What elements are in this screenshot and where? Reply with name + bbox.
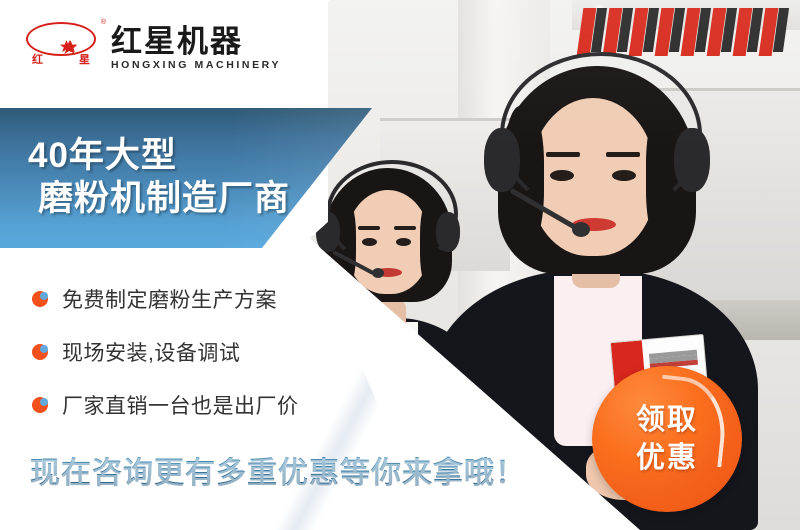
headline-line-1: 40年大型 [28, 135, 372, 178]
logo-wordmark: 红星机器 HONGXING MACHINERY [111, 26, 281, 70]
promo-banner: 40年大型 磨粉机制造厂商 ® 红 星 红 [0, 0, 800, 530]
registered-trademark-symbol: ® [101, 19, 106, 26]
company-logo[interactable]: ® 红 星 红星机器 HONGXING MACHINERY [24, 18, 281, 78]
logo-sub-left: 红 [32, 55, 43, 66]
bullet-dot-icon [32, 291, 48, 307]
headset-earcup [674, 128, 710, 192]
feature-bullet-list: 免费制定磨粉生产方案 现场安装,设备调试 厂家直销一台也是出厂价 [32, 272, 362, 431]
headset-band [500, 52, 702, 218]
bullet-label: 免费制定磨粉生产方案 [62, 284, 277, 314]
company-name-cn: 红星机器 [111, 26, 281, 58]
headline-line-2: 磨粉机制造厂商 [28, 178, 372, 221]
claim-offer-button[interactable]: 领取 优惠 [592, 366, 742, 512]
headline-text-block: 40年大型 磨粉机制造厂商 [0, 108, 372, 248]
bullet-dot-icon [32, 344, 48, 360]
list-item: 厂家直销一台也是出厂价 [32, 378, 362, 431]
company-name-en: HONGXING MACHINERY [111, 60, 281, 71]
cta-line-2: 优惠 [636, 439, 698, 477]
bullet-label: 厂家直销一台也是出厂价 [62, 390, 299, 420]
logo-sub-right: 星 [79, 55, 90, 66]
promo-slogan: 现在咨询更有多重优惠等你来拿哦！ [30, 448, 526, 492]
list-item: 现场安装,设备调试 [32, 325, 362, 378]
hongxing-oval-star-icon: ® 红 星 [24, 21, 102, 75]
bullet-label: 现场安装,设备调试 [62, 337, 240, 367]
bullet-dot-icon [32, 397, 48, 413]
headset-earcup [436, 212, 460, 252]
headset-earcup [484, 128, 520, 192]
cta-line-1: 领取 [636, 401, 698, 439]
list-item: 免费制定磨粉生产方案 [32, 272, 362, 325]
